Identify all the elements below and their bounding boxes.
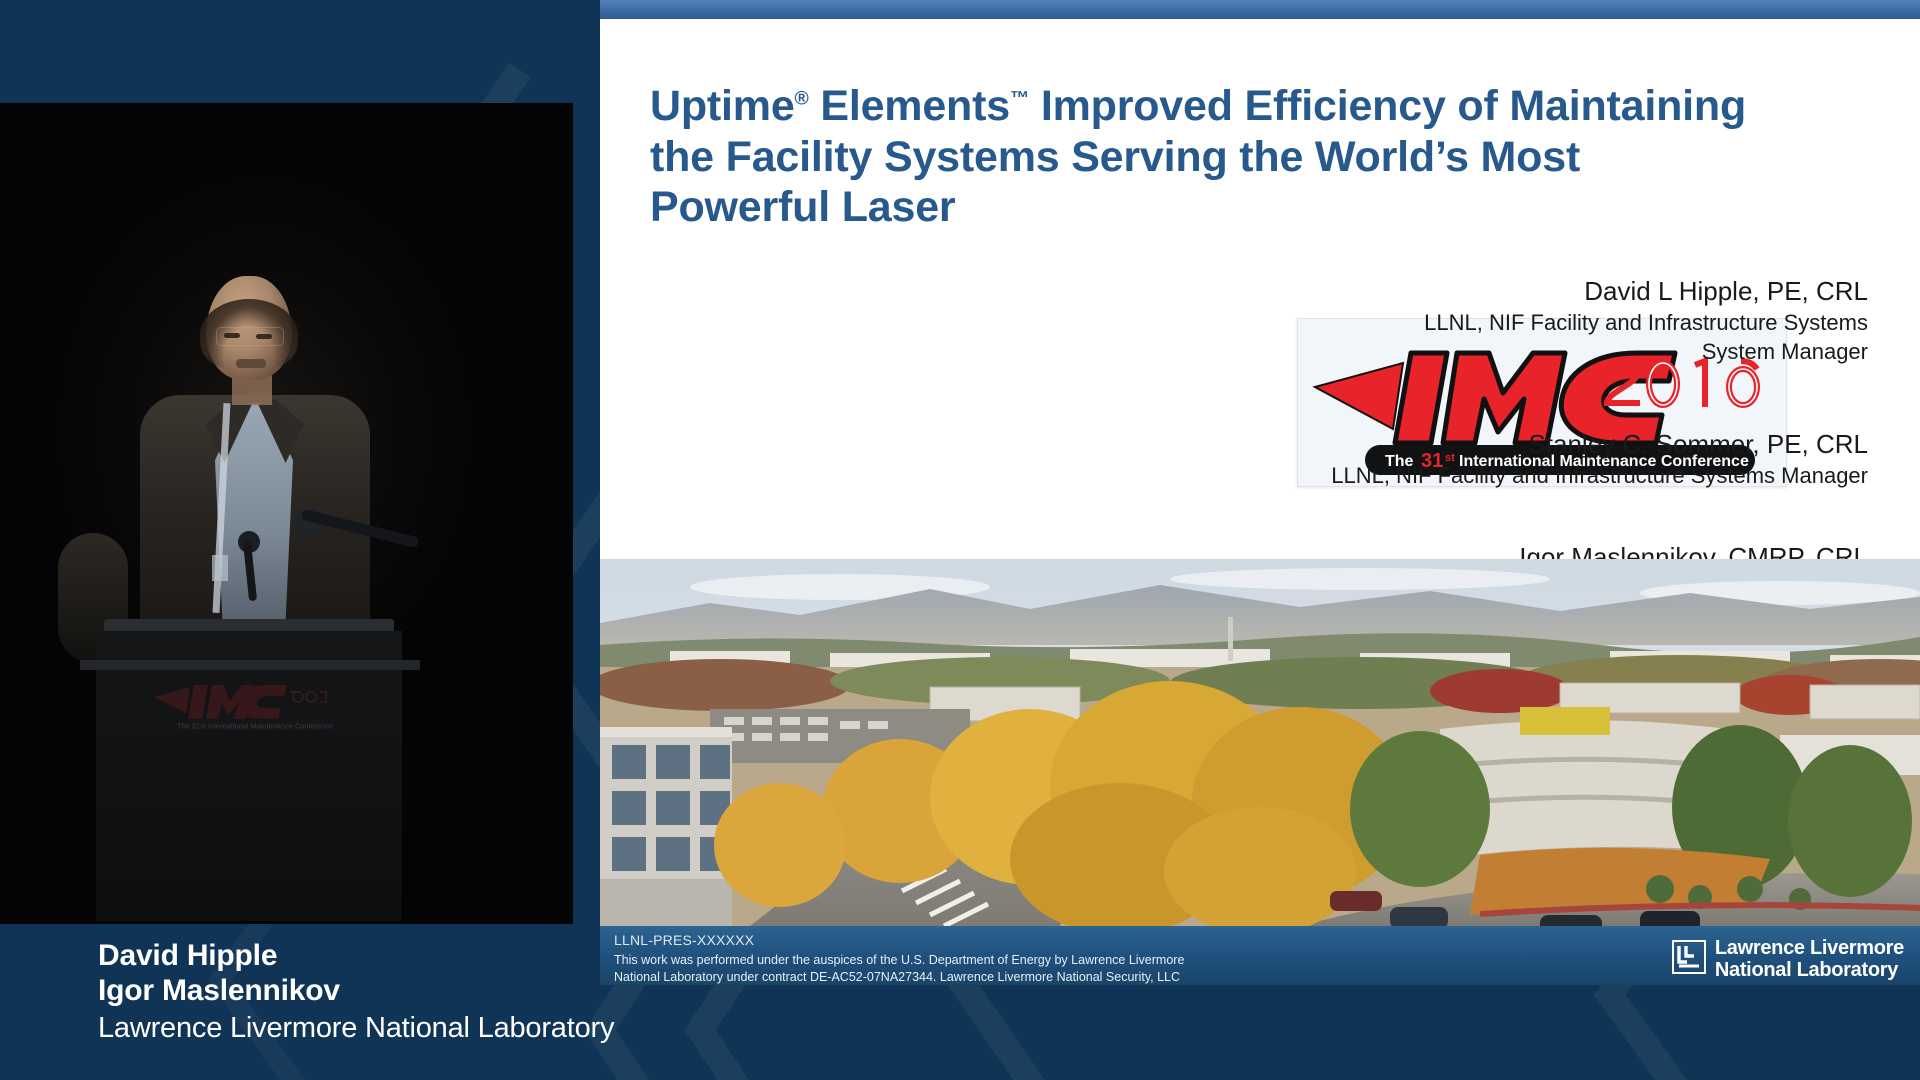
title-segment-tail: Improved Efficiency of [1029, 82, 1498, 130]
author-role: System Manager [1424, 337, 1868, 366]
llnl-campus-aerial-photo [600, 559, 1920, 926]
llnl-logo-line-1: Lawrence Livermore [1715, 937, 1904, 959]
trademark-icon: ™ [1010, 87, 1029, 109]
speaker-eye-left [224, 333, 240, 338]
svg-text:The 31st International Mainten: The 31st International Maintenance Confe… [177, 721, 333, 730]
slide-header-bar [600, 0, 1920, 19]
speaker-organization: Lawrence Livermore National Laboratory [98, 1011, 614, 1046]
disclaimer-line-1: This work was performed under the auspic… [614, 952, 1254, 969]
llnl-logo: Lawrence Livermore National Laboratory [1672, 938, 1904, 981]
podium-front-lip [80, 660, 420, 670]
presentation-slide-panel[interactable]: Uptime® Elements™ Improved Efficiency of… [600, 0, 1920, 985]
title-segment-elements: Elements [809, 82, 1010, 130]
author-block-1: David L Hipple, PE, CRL LLNL, NIF Facili… [1424, 275, 1868, 366]
document-id-label: LLNL-PRES-XXXXXX [614, 932, 754, 948]
speaker-name-2: Igor Maslennikov [98, 973, 614, 1008]
llnl-mark-icon [1672, 940, 1706, 979]
disclaimer-line-2: National Laboratory under contract DE-AC… [614, 969, 1254, 986]
author-affiliation: LLNL, NIF Facility and Infrastructure Sy… [1331, 461, 1868, 490]
speaker-mustache [236, 359, 266, 368]
author-block-2: Stanley C. Sommer, PE, CRL LLNL, NIF Fac… [1331, 428, 1868, 490]
llnl-logo-text: Lawrence Livermore National Laboratory [1715, 938, 1904, 981]
speaker-eye-right [256, 334, 272, 339]
slide-title: Uptime® Elements™ Improved Efficiency of… [650, 81, 1750, 233]
author-name: David L Hipple, PE, CRL [1424, 275, 1868, 308]
registered-trademark-icon: ® [795, 87, 809, 109]
author-name: Stanley C. Sommer, PE, CRL [1331, 428, 1868, 461]
author-affiliation: LLNL, NIF Facility and Infrastructure Sy… [1424, 308, 1868, 337]
llnl-logo-line-2: National Laboratory [1715, 959, 1898, 981]
speaker-badge [212, 555, 228, 581]
speaker-name-1: David Hipple [98, 938, 614, 973]
slide-footer-bar: LLNL-PRES-XXXXXX This work was performed… [600, 926, 1920, 985]
podium-imc-logo: The 31st International Maintenance Confe… [150, 673, 350, 733]
title-segment-uptime: Uptime [650, 82, 795, 130]
doe-disclaimer-text: This work was performed under the auspic… [614, 952, 1254, 985]
presentation-video-panel[interactable]: The 31st International Maintenance Confe… [0, 103, 573, 924]
speaker-nameplate: David Hipple Igor Maslennikov Lawrence L… [98, 938, 614, 1046]
